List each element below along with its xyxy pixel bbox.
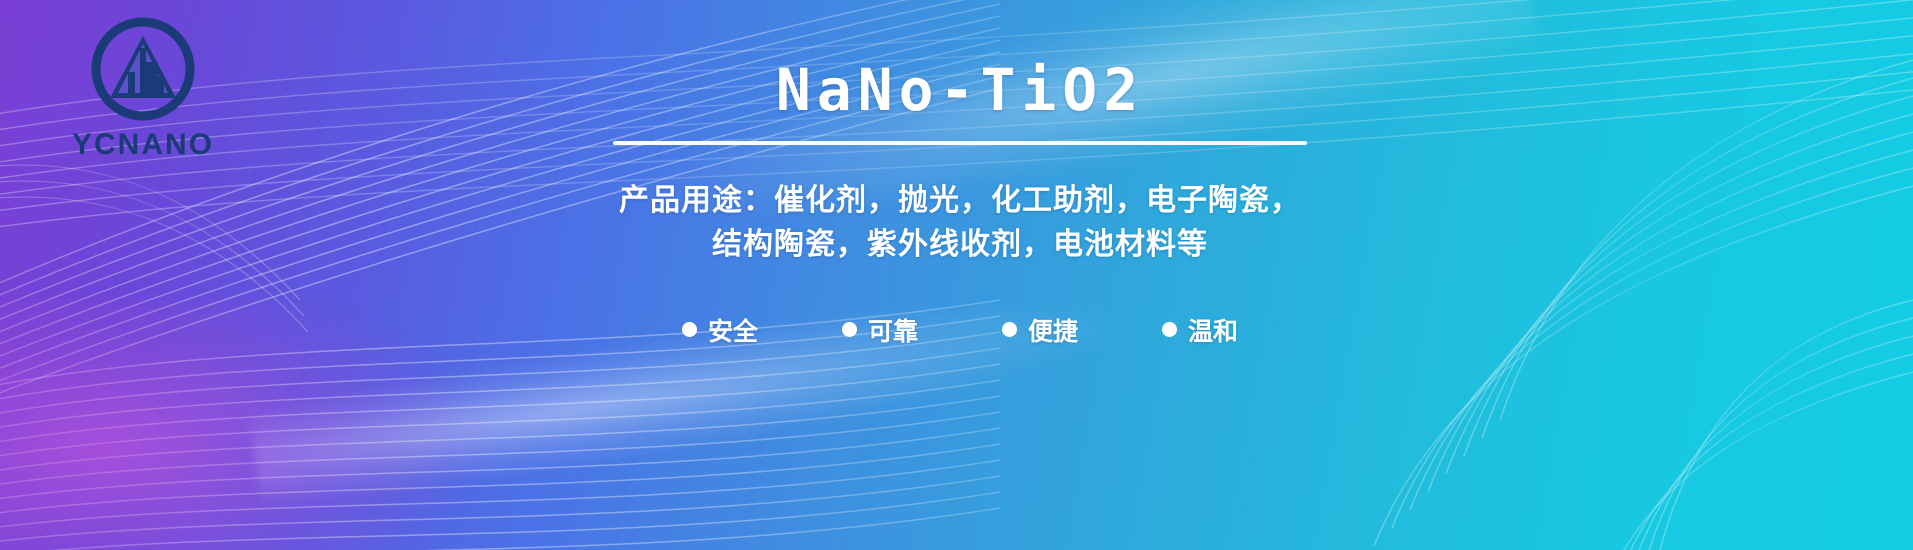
bullet-dot-icon — [842, 322, 857, 337]
title-divider — [613, 141, 1307, 145]
product-photo-group — [1373, 0, 1913, 550]
brand-wordmark: YCNANO — [72, 128, 214, 162]
feature-label: 可靠 — [868, 312, 918, 348]
feature-list: 安全 可靠 便捷 温和 — [430, 312, 1490, 348]
magenta-glow-decoration — [0, 300, 480, 550]
feature-item-safe: 安全 — [682, 312, 758, 348]
bullet-dot-icon — [682, 322, 697, 337]
feature-item-convenient: 便捷 — [1002, 312, 1078, 348]
ycnano-triangle-circle-logo-icon — [88, 14, 198, 124]
bullet-dot-icon — [1162, 322, 1177, 337]
brand-logo[interactable]: YCNANO — [48, 14, 238, 174]
feature-item-mild: 温和 — [1162, 312, 1238, 348]
product-banner: YCNANO NaNo-TiO2 产品用途：催化剂，抛光，化工助剂，电子陶瓷， … — [0, 0, 1913, 550]
feature-label: 安全 — [708, 312, 758, 348]
page-title: NaNo-TiO2 — [430, 60, 1490, 121]
feature-item-reliable: 可靠 — [842, 312, 918, 348]
description-line-2: 结构陶瓷，紫外线收剂，电池材料等 — [430, 223, 1490, 267]
feature-label: 便捷 — [1028, 312, 1078, 348]
feature-label: 温和 — [1188, 312, 1238, 348]
bullet-dot-icon — [1002, 322, 1017, 337]
description-line-1: 产品用途：催化剂，抛光，化工助剂，电子陶瓷， — [430, 179, 1490, 223]
product-description: 产品用途：催化剂，抛光，化工助剂，电子陶瓷， 结构陶瓷，紫外线收剂，电池材料等 — [430, 179, 1490, 268]
banner-copy: NaNo-TiO2 产品用途：催化剂，抛光，化工助剂，电子陶瓷， 结构陶瓷，紫外… — [430, 60, 1490, 348]
